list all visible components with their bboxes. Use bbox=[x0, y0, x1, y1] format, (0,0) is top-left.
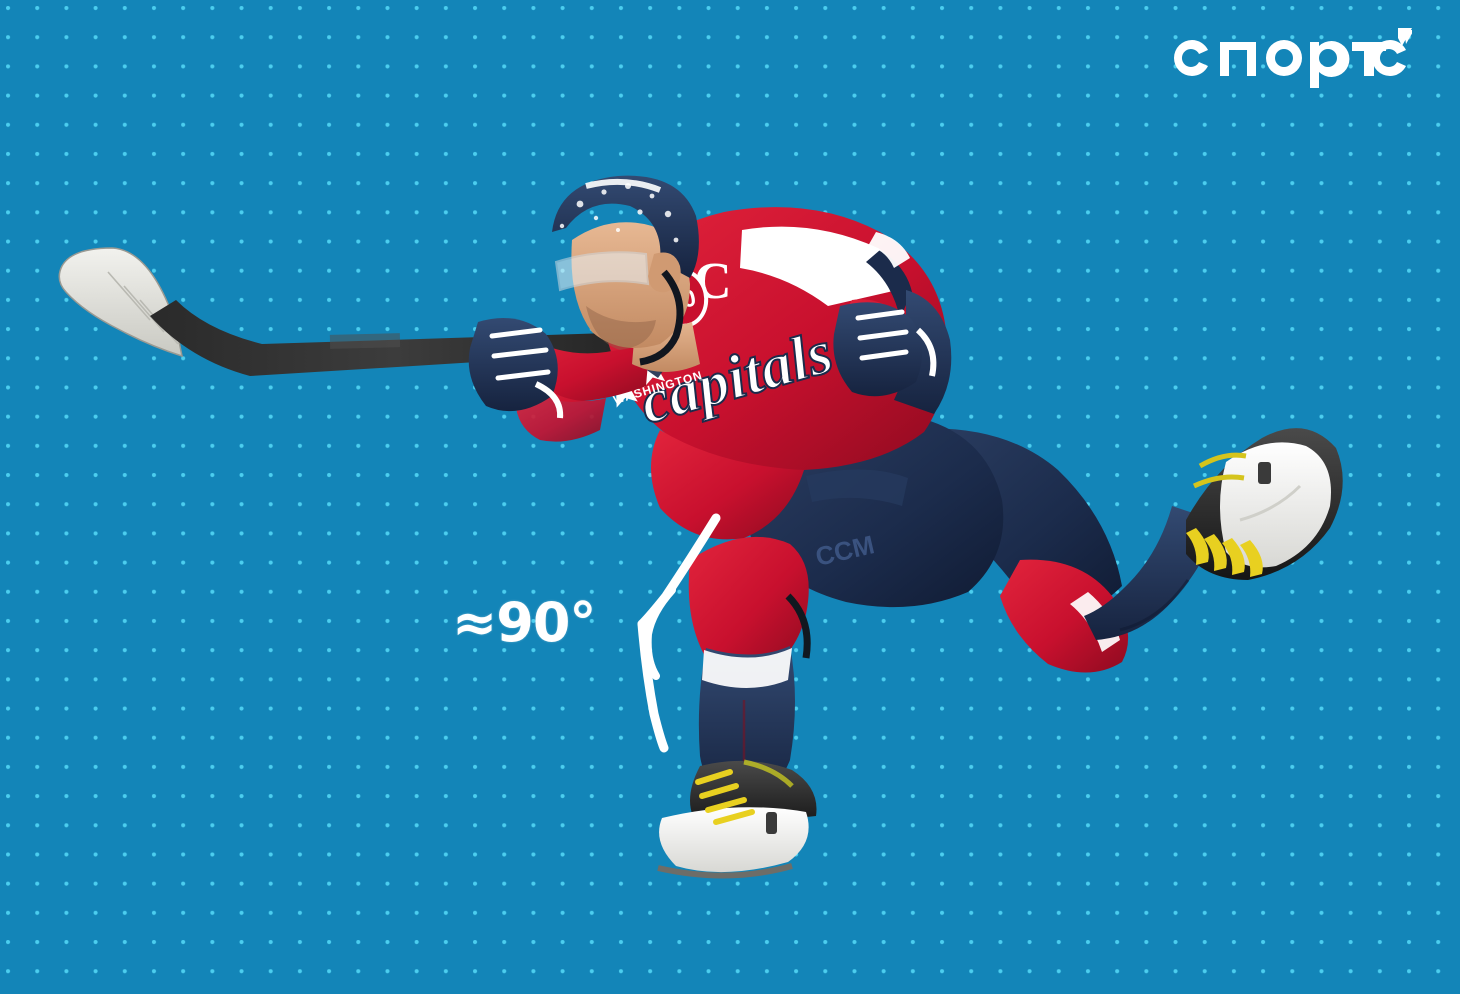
dot-grid-background bbox=[0, 0, 1460, 994]
infographic-canvas: CCM CCM bbox=[0, 0, 1460, 994]
angle-label: ≈90° bbox=[452, 596, 595, 650]
sports-ru-logo[interactable] bbox=[1162, 26, 1412, 88]
sports-ru-logo-mark bbox=[1162, 26, 1412, 88]
